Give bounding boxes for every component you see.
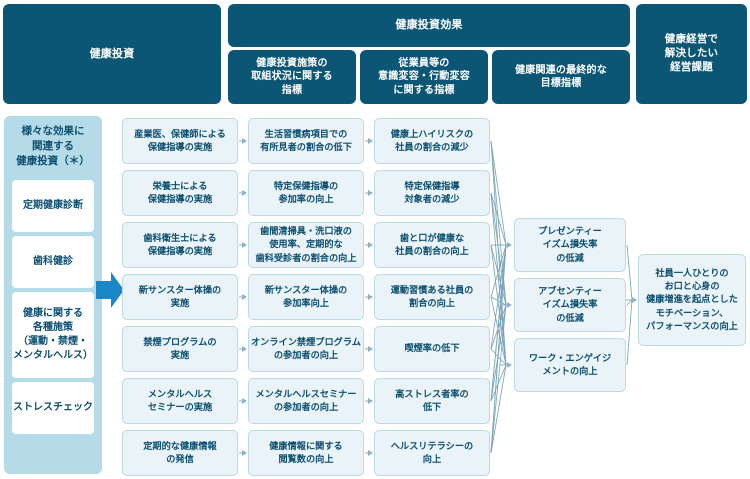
measure-box-5[interactable]: 禁煙プログラムの実施 — [122, 326, 238, 372]
diagram-canvas: 健康投資 健康投資効果 健康投資施策の取組状況に関する指標 従業員等の意識変容・… — [0, 0, 750, 479]
sidebar-caption: 様々な効果に関連する健康投資（＊） — [4, 124, 102, 170]
behavior-box-2[interactable]: 特定保健指導の参加率の向上 — [248, 170, 364, 216]
business-outcome-box-3[interactable]: ワーク・エンゲイジメントの向上 — [514, 338, 626, 392]
header-kpi-implementation: 健康投資施策の取組状況に関する指標 — [228, 50, 356, 104]
behavior-box-5[interactable]: オンライン禁煙プログラムの参加者の向上 — [248, 326, 364, 372]
behavior-box-3[interactable]: 歯間清掃具・洗口液の使用率、定期的な歯科受診者の割合の向上 — [248, 222, 364, 268]
header-kpi-final-target: 健康関連の最終的な目標指標 — [492, 50, 630, 104]
sidebar-item-health-checkup[interactable]: 定期健康診断 — [12, 180, 94, 232]
outcome-box-1[interactable]: 健康上ハイリスクの社員の割合の減少 — [374, 118, 490, 164]
big-right-arrow-icon — [96, 272, 124, 308]
outcome-box-2[interactable]: 特定保健指導対象者の減少 — [374, 170, 490, 216]
measure-box-1[interactable]: 産業医、保健師による保健指導の実施 — [122, 118, 238, 164]
behavior-box-7[interactable]: 健康情報に関する閲覧数の向上 — [248, 430, 364, 476]
measure-box-4[interactable]: 新サンスター体操の実施 — [122, 274, 238, 320]
sidebar-investment-panel: 様々な効果に関連する健康投資（＊） 定期健康診断 歯科健診 健康に関する各種施策… — [4, 116, 102, 474]
sidebar-item-stress-check[interactable]: ストレスチェック — [12, 382, 94, 434]
header-kpi-behavior-change: 従業員等の意識変容・行動変容に関する指標 — [360, 50, 488, 104]
measure-box-7[interactable]: 定期的な健康情報の発信 — [122, 430, 238, 476]
business-outcome-box-1[interactable]: プレゼンティーイズム損失率の低減 — [514, 218, 626, 272]
outcome-box-3[interactable]: 歯と口が健康な社員の割合の向上 — [374, 222, 490, 268]
outcome-box-6[interactable]: 高ストレス者率の低下 — [374, 378, 490, 424]
sidebar-item-health-programs[interactable]: 健康に関する各種施策（運動・禁煙・メンタルヘルス） — [12, 292, 94, 378]
behavior-box-6[interactable]: メンタルヘルスセミナーの参加者の向上 — [248, 378, 364, 424]
measure-box-6[interactable]: メンタルヘルスセミナーの実施 — [122, 378, 238, 424]
outcome-box-7[interactable]: ヘルスリテラシーの向上 — [374, 430, 490, 476]
measure-box-3[interactable]: 歯科衛生士による保健指導の実施 — [122, 222, 238, 268]
outcome-box-5[interactable]: 喫煙率の低下 — [374, 326, 490, 372]
outcome-box-4[interactable]: 運動習慣ある社員の割合の向上 — [374, 274, 490, 320]
final-outcome-box[interactable]: 社員一人ひとりのお口と心身の健康増進を起点としたモチベーション、パフォーマンスの… — [638, 254, 746, 346]
header-health-investment-effect: 健康投資効果 — [228, 4, 630, 47]
behavior-box-1[interactable]: 生活習慣病項目での有所見者の割合の低下 — [248, 118, 364, 164]
header-health-investment: 健康投資 — [3, 4, 221, 104]
measure-box-2[interactable]: 栄養士による保健指導の実施 — [122, 170, 238, 216]
business-outcome-box-2[interactable]: アブセンティーイズム損失率の低減 — [514, 278, 626, 332]
sidebar-item-dental-checkup[interactable]: 歯科健診 — [12, 236, 94, 288]
behavior-box-4[interactable]: 新サンスター体操の参加率向上 — [248, 274, 364, 320]
header-management-issue: 健康経営で解決したい経営課題 — [636, 4, 747, 104]
